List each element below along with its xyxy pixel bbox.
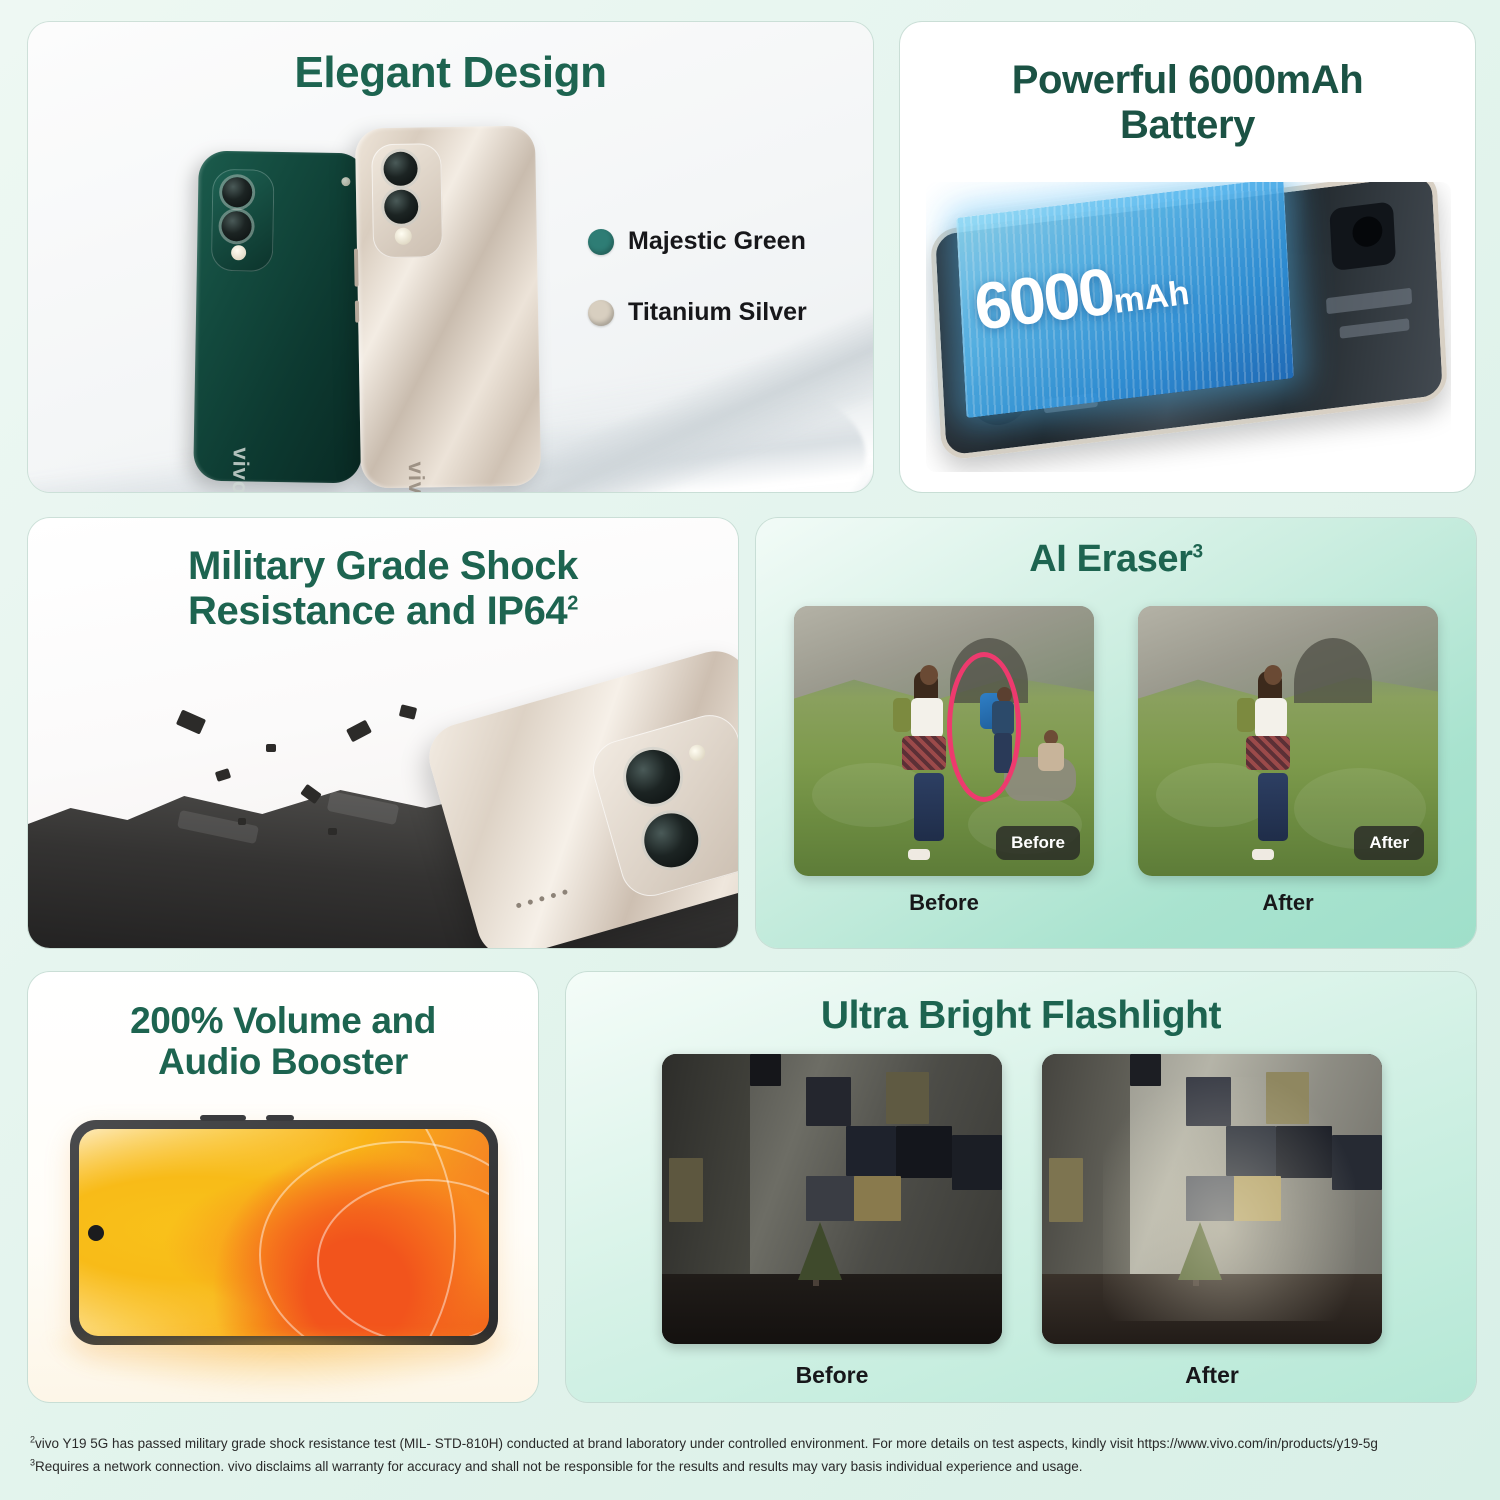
wall-panel (1226, 1126, 1276, 1176)
hiker-jeans (1258, 773, 1288, 841)
hiker-plaid-shirt (902, 736, 946, 770)
rock-highlight (66, 782, 129, 816)
military-title-superscript: 2 (567, 592, 578, 614)
camera-island (586, 708, 738, 903)
audio-title-line2: Audio Booster (158, 1041, 408, 1082)
debris-chip (346, 720, 372, 743)
debris-chip (176, 709, 206, 734)
debris-chip (328, 828, 337, 835)
wall-panel (806, 1077, 851, 1127)
tree-icon (798, 1222, 842, 1280)
phone-majestic-green: vivo (193, 151, 367, 484)
page-title-audio: 200% Volume and Audio Booster (28, 1000, 538, 1083)
camera-lens-secondary (638, 807, 705, 874)
wall-panel (1332, 1135, 1382, 1189)
debris-chip (215, 768, 231, 782)
military-title-line1: Military Grade Shock (188, 544, 578, 588)
room-photo-before (662, 1054, 1002, 1344)
vivo-logo: vivo (403, 461, 430, 492)
wall-panel-side (1049, 1158, 1083, 1222)
wall-back (750, 1054, 1002, 1280)
camera-lens-primary (383, 152, 418, 187)
photo-caption-after: After (1138, 890, 1438, 916)
wall-panel (886, 1072, 929, 1124)
page-title-flashlight: Ultra Bright Flashlight (566, 994, 1476, 1038)
hiker-shoe (908, 849, 930, 860)
phone-landscape (70, 1120, 498, 1345)
cliff-background (1138, 606, 1438, 725)
wall-panel (806, 1176, 854, 1221)
camera-lens-secondary (384, 190, 419, 225)
battery-illustration: 6000mAh (926, 182, 1451, 472)
internal-board-strip (1326, 288, 1412, 314)
panel-battery: Powerful 6000mAh Battery 6000mAh (900, 22, 1475, 492)
cliff-background (794, 606, 1094, 725)
camera-flash-icon (395, 228, 412, 245)
photo-caption-before: Before (794, 890, 1094, 916)
hiker-top (911, 698, 943, 738)
wall-panel (846, 1126, 896, 1176)
room-photo-after (1042, 1054, 1382, 1344)
phone-drop-test (421, 643, 738, 948)
wall-panel (1186, 1176, 1234, 1221)
camera-island (211, 169, 275, 272)
flash-led-icon (341, 177, 350, 186)
color-swatch-titanium-silver (588, 300, 614, 326)
vivo-logo: vivo (227, 447, 254, 492)
battery-title-line2: Battery (1120, 103, 1255, 147)
selection-marker-ellipse (947, 652, 1021, 802)
volume-button (354, 249, 359, 287)
hiker-backpack (893, 698, 911, 732)
hiker-shoe (1252, 849, 1274, 860)
rock-highlight (327, 791, 400, 825)
internal-connector (1339, 318, 1409, 339)
flashlight-comparison-row: Before (662, 1054, 1382, 1389)
camera-flash-icon (231, 245, 246, 260)
wall-panel (1186, 1077, 1231, 1127)
footnote-2: 2vivo Y19 5G has passed military grade s… (30, 1432, 1470, 1455)
wall-back (1130, 1054, 1382, 1280)
tree-icon (1178, 1222, 1222, 1280)
page-title-military: Military Grade Shock Resistance and IP64… (28, 544, 738, 634)
footnotes: 2vivo Y19 5G has passed military grade s… (30, 1432, 1470, 1478)
page-title-elegant-design: Elegant Design (28, 48, 873, 97)
power-button (355, 301, 359, 323)
page-title-battery: Powerful 6000mAh Battery (900, 58, 1475, 148)
before-after-photo-row: Before Before After (794, 606, 1438, 916)
panel-audio-booster: 200% Volume and Audio Booster (28, 972, 538, 1402)
camera-lens-secondary (221, 211, 252, 242)
color-swatch-majestic-green (588, 229, 614, 255)
photo-after-wrapper: After After (1138, 606, 1438, 916)
camera-lens-primary (222, 177, 253, 208)
debris-chip (238, 818, 246, 825)
wall-panel (1130, 1054, 1160, 1086)
legend-label: Titanium Silver (628, 298, 807, 327)
flash-caption-after: After (1042, 1362, 1382, 1389)
wall-panel (952, 1135, 1002, 1189)
floor (1042, 1274, 1382, 1344)
legend-label: Majestic Green (628, 227, 806, 256)
flash-before-wrapper: Before (662, 1054, 1002, 1389)
flash-caption-before: Before (662, 1362, 1002, 1389)
hiker-jeans (914, 773, 944, 841)
front-camera-icon (88, 1225, 104, 1241)
military-title-line2: Resistance and IP64 (188, 589, 567, 633)
photo-after: After (1138, 606, 1438, 876)
hiker-top (1255, 698, 1287, 738)
phone-screen-wallpaper (79, 1129, 489, 1336)
battery-title-line1: Powerful 6000mAh (1012, 58, 1364, 102)
legend-item-titanium-silver: Titanium Silver (588, 298, 807, 327)
footnote-3: 3Requires a network connection. vivo dis… (30, 1455, 1470, 1478)
debris-chip (266, 744, 276, 752)
flash-after-wrapper: After (1042, 1054, 1382, 1389)
hiker-backpack (1237, 698, 1255, 732)
debris-chip (399, 704, 417, 720)
ai-eraser-title: AI Eraser (1029, 538, 1192, 580)
camera-flash-icon (687, 743, 707, 763)
camera-island (371, 143, 443, 258)
wall-panel (1266, 1072, 1309, 1124)
panel-elegant-design: Elegant Design vivo vivo Majestic (28, 22, 873, 492)
floor (662, 1274, 1002, 1344)
wall-panel (854, 1176, 902, 1221)
infographic-page: Elegant Design vivo vivo Majestic (0, 0, 1500, 1500)
wall-panel (1276, 1126, 1331, 1178)
footnote-3-text: Requires a network connection. vivo disc… (35, 1459, 1083, 1474)
ai-eraser-title-superscript: 3 (1193, 541, 1203, 562)
rock-highlight (177, 810, 259, 844)
panel-flashlight: Ultra Bright Flashlight (566, 972, 1476, 1402)
seated-person-body (1038, 743, 1064, 771)
audio-title-line1: 200% Volume and (130, 1000, 436, 1041)
color-legend: Majestic Green Titanium Silver (588, 227, 807, 369)
speaker-glow (38, 1336, 528, 1396)
wall-panel-side (669, 1158, 703, 1222)
legend-item-majestic-green: Majestic Green (588, 227, 807, 256)
wall-panel (1234, 1176, 1282, 1221)
wall-panel (750, 1054, 780, 1086)
image-badge-before: Before (996, 826, 1080, 860)
footnote-2-text: vivo Y19 5G has passed military grade sh… (35, 1436, 1378, 1451)
power-button (266, 1115, 294, 1121)
wall-panel (896, 1126, 951, 1178)
panel-military-grade: Military Grade Shock Resistance and IP64… (28, 518, 738, 948)
photo-before-wrapper: Before Before (794, 606, 1094, 916)
volume-button (200, 1115, 246, 1121)
speaker-grille (516, 889, 568, 908)
battery-capacity-value: 6000 (970, 253, 1117, 343)
background-person-seated (1034, 730, 1074, 784)
panel-ai-eraser: AI Eraser3 (756, 518, 1476, 948)
hiker-plaid-shirt (1246, 736, 1290, 770)
page-title-ai-eraser: AI Eraser3 (756, 538, 1476, 581)
camera-lens-primary (620, 744, 687, 811)
phone-titanium-silver: vivo (355, 125, 541, 488)
battery-capacity-unit: mAh (1112, 274, 1192, 321)
photo-before: Before (794, 606, 1094, 876)
image-badge-after: After (1354, 826, 1424, 860)
